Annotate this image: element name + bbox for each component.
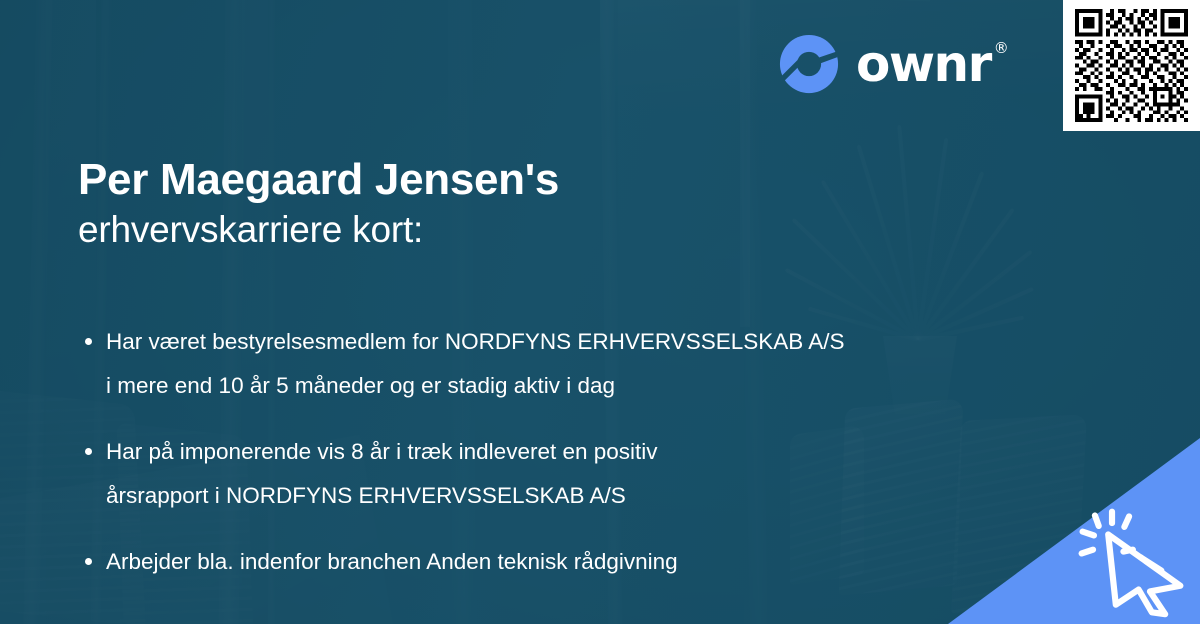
career-facts-list: Har været bestyrelsesmedlem for NORDFYNS…: [84, 320, 1044, 583]
person-name: Per Maegaard Jensen's: [78, 155, 838, 204]
click-cursor-icon: [1072, 506, 1190, 618]
list-item-line: Har været bestyrelsesmedlem for NORDFYNS…: [106, 320, 1044, 364]
qr-code-panel[interactable]: [1063, 0, 1200, 131]
business-card: ownr ®: [0, 0, 1200, 624]
list-item: Arbejder bla. indenfor branchen Anden te…: [84, 540, 1044, 584]
bullet-dot-icon: [85, 558, 92, 565]
bullet-dot-icon: [85, 338, 92, 345]
ownr-wordmark-text: ownr: [856, 35, 991, 93]
list-item-line: i mere end 10 år 5 måneder og er stadig …: [106, 364, 1044, 408]
list-item-line: årsrapport i NORDFYNS ERHVERVSSELSKAB A/…: [106, 474, 1044, 518]
page-title: Per Maegaard Jensen's erhvervskarriere k…: [78, 155, 838, 252]
ownr-circular-swirl-logo-icon: [778, 33, 840, 95]
list-item: Har været bestyrelsesmedlem for NORDFYNS…: [84, 320, 1044, 408]
page-subtitle: erhvervskarriere kort:: [78, 208, 838, 252]
qr-code-icon: [1072, 9, 1191, 122]
registered-trademark-icon: ®: [994, 41, 1009, 56]
list-item: Har på imponerende vis 8 år i træk indle…: [84, 430, 1044, 518]
list-item-line: Har på imponerende vis 8 år i træk indle…: [106, 430, 1044, 474]
ownr-logo[interactable]: ownr ®: [778, 32, 1009, 96]
list-item-line: Arbejder bla. indenfor branchen Anden te…: [106, 540, 1044, 584]
ownr-wordmark: ownr ®: [856, 39, 1009, 89]
bullet-dot-icon: [85, 448, 92, 455]
